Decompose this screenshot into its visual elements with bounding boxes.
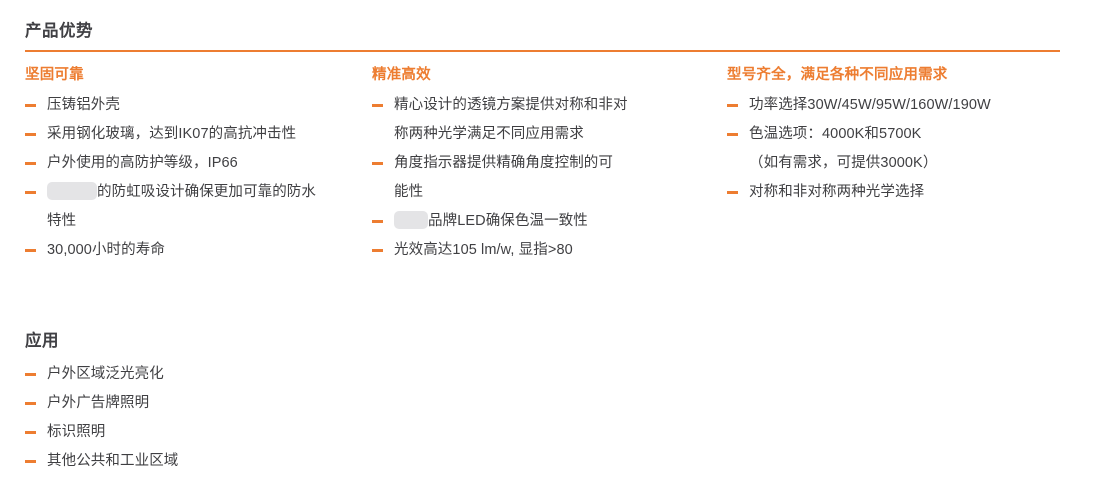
item-text-continuation: 能性 (394, 178, 713, 207)
column-3-heading: 型号齐全，满足各种不同应用需求 (727, 65, 1071, 85)
dash-bullet-icon (25, 191, 36, 194)
item-text-continuation: 特性 (47, 207, 358, 236)
item-text: 的防虹吸设计确保更加可靠的防水 (47, 184, 316, 200)
column-3-item: 色温选项：4000K和5700K（如有需求，可提供3000K） (727, 120, 1071, 178)
column-2-item: 品牌LED确保色温一致性 (372, 207, 713, 236)
item-text-continuation: 称两种光学满足不同应用需求 (394, 120, 713, 149)
advantages-title-divider (25, 50, 1060, 52)
column-1-item: 30,000小时的寿命 (25, 236, 358, 265)
advantages-column-3: 型号齐全，满足各种不同应用需求 功率选择30W/45W/95W/160W/190… (727, 65, 1071, 265)
column-2-list: 精心设计的透镜方案提供对称和非对称两种光学满足不同应用需求角度指示器提供精确角度… (372, 91, 713, 265)
column-3-list: 功率选择30W/45W/95W/160W/190W色温选项：4000K和5700… (727, 91, 1071, 207)
dash-bullet-icon (372, 220, 383, 223)
column-2-item: 光效高达105 lm/w, 显指>80 (372, 236, 713, 265)
column-3-item: 对称和非对称两种光学选择 (727, 178, 1071, 207)
dash-bullet-icon (25, 402, 36, 405)
redacted-text-overlay (47, 182, 97, 200)
item-text: 其他公共和工业区域 (47, 453, 178, 469)
dash-bullet-icon (25, 104, 36, 107)
item-text: 30,000小时的寿命 (47, 242, 165, 258)
item-text: 户外使用的高防护等级，IP66 (47, 155, 238, 171)
item-text: 户外区域泛光亮化 (47, 366, 164, 382)
item-text: 功率选择30W/45W/95W/160W/190W (749, 97, 991, 113)
application-item: 户外区域泛光亮化 (25, 360, 445, 389)
item-text: 品牌LED确保色温一致性 (394, 213, 588, 229)
column-3-item: 功率选择30W/45W/95W/160W/190W (727, 91, 1071, 120)
item-text: 采用钢化玻璃，达到IK07的高抗冲击性 (47, 126, 296, 142)
dash-bullet-icon (727, 104, 738, 107)
column-2-item: 精心设计的透镜方案提供对称和非对称两种光学满足不同应用需求 (372, 91, 713, 149)
applications-list: 户外区域泛光亮化户外广告牌照明标识照明其他公共和工业区域 (25, 360, 445, 476)
dash-bullet-icon (25, 373, 36, 376)
column-2-item: 角度指示器提供精确角度控制的可能性 (372, 149, 713, 207)
item-text: 光效高达105 lm/w, 显指>80 (394, 242, 573, 258)
item-text-continuation: （如有需求，可提供3000K） (749, 149, 1071, 178)
advantages-section-title: 产品优势 (25, 20, 1071, 42)
item-text: 色温选项：4000K和5700K (749, 126, 921, 142)
dash-bullet-icon (25, 460, 36, 463)
dash-bullet-icon (25, 249, 36, 252)
column-1-item: 户外使用的高防护等级，IP66 (25, 149, 358, 178)
applications-section-title: 应用 (25, 330, 445, 352)
item-text: 压铸铝外壳 (47, 97, 120, 113)
item-text: 精心设计的透镜方案提供对称和非对 (394, 97, 628, 113)
application-item: 户外广告牌照明 (25, 389, 445, 418)
column-1-item: 采用钢化玻璃，达到IK07的高抗冲击性 (25, 120, 358, 149)
application-item: 标识照明 (25, 418, 445, 447)
column-1-list: 压铸铝外壳采用钢化玻璃，达到IK07的高抗冲击性户外使用的高防护等级，IP66的… (25, 91, 358, 265)
redacted-text-overlay (394, 211, 428, 229)
dash-bullet-icon (25, 133, 36, 136)
dash-bullet-icon (372, 162, 383, 165)
dash-bullet-icon (727, 191, 738, 194)
applications-section: 应用 户外区域泛光亮化户外广告牌照明标识照明其他公共和工业区域 (25, 330, 445, 476)
column-1-heading: 坚固可靠 (25, 65, 358, 85)
dash-bullet-icon (372, 249, 383, 252)
column-1-item: 的防虹吸设计确保更加可靠的防水特性 (25, 178, 358, 236)
item-text: 标识照明 (47, 424, 105, 440)
advantages-column-2: 精准高效 精心设计的透镜方案提供对称和非对称两种光学满足不同应用需求角度指示器提… (372, 65, 727, 265)
advantages-columns: 坚固可靠 压铸铝外壳采用钢化玻璃，达到IK07的高抗冲击性户外使用的高防护等级，… (25, 65, 1071, 265)
item-text: 角度指示器提供精确角度控制的可 (394, 155, 613, 171)
column-1-item: 压铸铝外壳 (25, 91, 358, 120)
column-2-heading: 精准高效 (372, 65, 713, 85)
application-item: 其他公共和工业区域 (25, 447, 445, 476)
item-text: 户外广告牌照明 (47, 395, 149, 411)
product-spec-page: 产品优势 坚固可靠 压铸铝外壳采用钢化玻璃，达到IK07的高抗冲击性户外使用的高… (0, 0, 1096, 491)
product-advantages-section: 产品优势 坚固可靠 压铸铝外壳采用钢化玻璃，达到IK07的高抗冲击性户外使用的高… (25, 20, 1071, 265)
advantages-column-1: 坚固可靠 压铸铝外壳采用钢化玻璃，达到IK07的高抗冲击性户外使用的高防护等级，… (25, 65, 372, 265)
dash-bullet-icon (25, 162, 36, 165)
dash-bullet-icon (25, 431, 36, 434)
item-text: 对称和非对称两种光学选择 (749, 184, 924, 200)
dash-bullet-icon (727, 133, 738, 136)
dash-bullet-icon (372, 104, 383, 107)
